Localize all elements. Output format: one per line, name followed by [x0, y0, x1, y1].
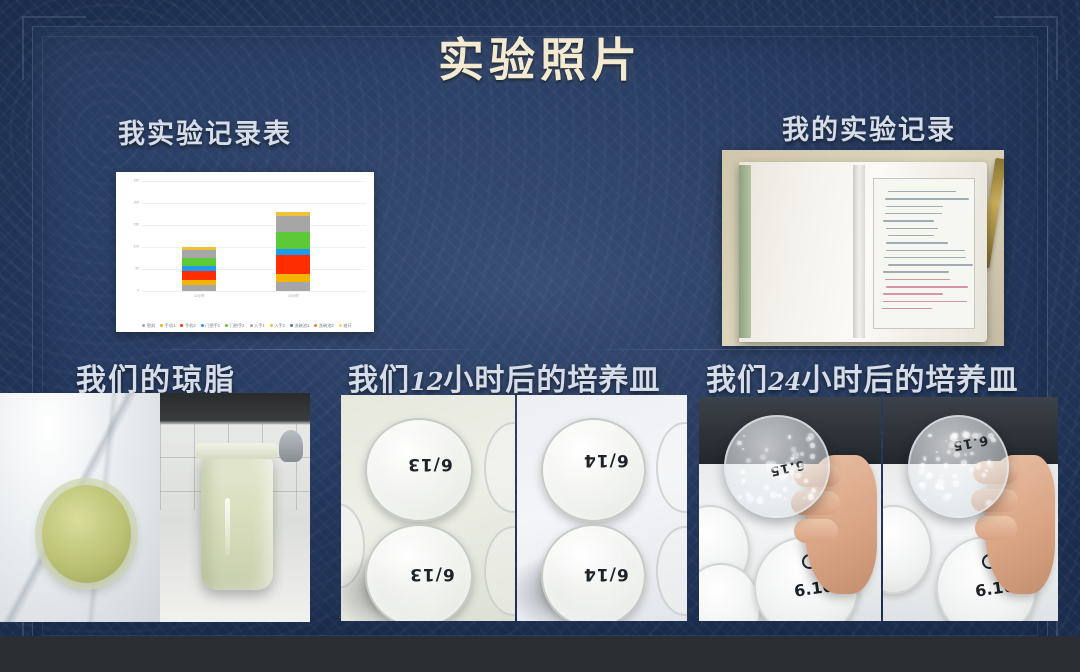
- chart-y-tick: 150: [134, 223, 139, 226]
- handwritten-line: [883, 271, 948, 272]
- bacterial-colony: [924, 469, 927, 472]
- bacterial-colony: [969, 467, 974, 472]
- chart-bar: 24小时: [276, 212, 310, 291]
- legend-swatch: [339, 324, 342, 327]
- legend-swatch: [225, 324, 228, 327]
- chart-bar-segment: [276, 232, 310, 249]
- bacterial-colony: [975, 463, 981, 469]
- legend-swatch: [290, 324, 293, 327]
- bacterial-colony: [954, 440, 959, 445]
- chart-bar-segment: [182, 285, 216, 291]
- bacterial-colony: [803, 497, 806, 500]
- legend-label: 入手2: [274, 324, 285, 328]
- chart-gridline: 200: [142, 203, 366, 204]
- legend-label: 手机1: [165, 324, 176, 328]
- bacterial-colony: [982, 473, 986, 477]
- chart-legend-item: 门把手1: [201, 324, 220, 328]
- chart-bar-segment: [182, 271, 216, 281]
- legend-swatch: [270, 324, 273, 327]
- handwritten-line: [886, 228, 938, 229]
- plate-photo-12h-right: 6/14 6/14: [517, 395, 687, 621]
- handwritten-line: [885, 198, 969, 199]
- handwritten-line: [888, 264, 973, 265]
- caption-plates-12h: 我们12小时后的培养皿: [348, 355, 660, 399]
- bacterial-colony: [926, 472, 933, 479]
- handwritten-line: [884, 257, 965, 258]
- legend-label: 门把手2: [230, 324, 245, 328]
- finger: [794, 519, 838, 543]
- finger: [975, 516, 1017, 540]
- bacterial-colony: [977, 433, 983, 439]
- bacterial-colony: [784, 497, 787, 500]
- bacterial-colony: [786, 462, 790, 466]
- agar-jar-photo: [160, 393, 310, 622]
- plate-label: 6/13: [409, 564, 455, 584]
- legend-label: 手机2: [185, 324, 196, 328]
- plate-label: 6/14: [583, 450, 629, 470]
- chart-bar-segment: [182, 250, 216, 258]
- legend-swatch: [180, 324, 183, 327]
- chart-gridline: 0: [142, 291, 366, 292]
- legend-swatch: [201, 324, 204, 327]
- agar-jar: [201, 455, 273, 590]
- handwritten-line: [883, 293, 943, 294]
- handwritten-line: [888, 191, 957, 192]
- bacterial-colony: [808, 433, 814, 439]
- bacterial-colony: [810, 454, 814, 458]
- bacterial-colony: [936, 457, 940, 461]
- bacterial-colony: [738, 495, 742, 499]
- jar-highlight: [225, 498, 230, 555]
- petri-dish: 6/13: [365, 524, 473, 621]
- bacterial-colony: [800, 452, 804, 456]
- caption-chart: 我实验记录表: [118, 112, 292, 151]
- chart-legend-item: 门把手2: [225, 324, 244, 328]
- bacterial-colony: [945, 440, 947, 442]
- chart-y-tick: 250: [134, 179, 139, 182]
- plate-photo-24h-right: 6.16 6.15: [883, 397, 1058, 621]
- bacterial-colony: [811, 488, 816, 493]
- bacterial-colony: [940, 486, 944, 490]
- chart-legend-item: 洗碗池2: [314, 324, 333, 328]
- handwritten-line: [885, 279, 950, 280]
- chart-legend-item: 密封: [142, 324, 155, 328]
- agar-bowl-photo: [0, 393, 160, 622]
- bacterial-colony: [741, 470, 745, 474]
- chart-legend-item: 手机2: [180, 324, 195, 328]
- chart-y-tick: 200: [134, 201, 139, 204]
- legend-swatch: [142, 324, 145, 327]
- legend-label: 入手1: [254, 324, 265, 328]
- chart-legend: 密封手机1手机2门把手1门把手2入手1入手2洗碗池1洗碗池2避开: [126, 324, 368, 328]
- chart-legend-item: 手机1: [160, 324, 175, 328]
- plate-label: 6/14: [583, 564, 629, 584]
- bacterial-colony: [741, 483, 743, 485]
- bacterial-colony: [953, 480, 960, 487]
- notebook-gutter: [853, 165, 865, 338]
- bacterial-colony: [928, 434, 932, 438]
- handwritten-line: [886, 286, 968, 287]
- legend-label: 密封: [147, 324, 155, 328]
- chart-legend-item: 避开: [339, 324, 352, 328]
- chart-gridline: 50: [142, 269, 366, 270]
- caption-notebook: 我的实验记录: [782, 108, 956, 147]
- chart-bar-segment: [182, 258, 216, 267]
- plate-label: 6/13: [407, 454, 453, 474]
- chart-bar-segment: [276, 255, 310, 274]
- plate-photo-24h-left: 6.16 6.15: [699, 397, 881, 621]
- bacterial-colony: [986, 500, 992, 506]
- handwritten-line: [886, 242, 948, 243]
- bacterial-colony: [779, 474, 785, 480]
- handwritten-line: [883, 220, 934, 221]
- chart-plot-area: 05010015020025012小时24小时: [142, 182, 366, 292]
- petri-dish: 6/14: [541, 524, 646, 621]
- handwritten-line: [888, 235, 935, 236]
- bacterial-colony: [788, 435, 791, 438]
- bacterial-colony: [920, 483, 923, 486]
- jar-lip: [196, 443, 277, 459]
- experiment-record-chart: 05010015020025012小时24小时 密封手机1手机2门把手1门把手2…: [116, 172, 374, 332]
- legend-label: 避开: [343, 324, 351, 328]
- chart-legend-item: 洗碗池1: [290, 324, 309, 328]
- handwritten-line: [885, 213, 942, 214]
- bacterial-colony: [964, 453, 967, 456]
- bottom-letterbox: [0, 636, 1080, 672]
- chart-y-tick: 0: [137, 289, 139, 292]
- bacterial-colony: [765, 448, 768, 451]
- bacterial-colony: [737, 441, 742, 446]
- bacterial-colony: [941, 475, 943, 477]
- bacterial-colony: [790, 470, 794, 474]
- bacterial-colony: [760, 455, 766, 461]
- bacterial-colony: [770, 492, 777, 499]
- bacterial-colony: [791, 481, 793, 483]
- handwritten-line: [886, 250, 966, 251]
- chart-bar-segment: [276, 282, 310, 291]
- legend-label: 洗碗池2: [319, 324, 334, 328]
- bacterial-colony: [947, 450, 951, 454]
- legend-swatch: [250, 324, 253, 327]
- open-notebook: [739, 162, 987, 342]
- petri-dish: 6/14: [541, 418, 646, 522]
- caption-plates-24h: 我们24小时后的培养皿: [706, 355, 1018, 399]
- petri-dish: 6/13: [365, 418, 473, 522]
- caption-plates-24h-prefix: 我们: [706, 363, 768, 398]
- bacterial-colony: [970, 452, 973, 455]
- handwritten-line: [886, 206, 943, 207]
- bacterial-colony: [987, 460, 991, 464]
- caption-plates-24h-suffix: 小时后的培养皿: [801, 363, 1018, 398]
- legend-label: 门把手1: [205, 324, 220, 328]
- chart-legend-item: 入手1: [250, 324, 265, 328]
- bacterial-colony: [746, 458, 751, 463]
- bacterial-colony: [795, 473, 801, 479]
- bacterial-colony: [936, 451, 938, 453]
- held-petri-dish: 6.15: [908, 415, 1010, 518]
- held-petri-dish: 6.15: [724, 415, 830, 518]
- chart-y-tick: 100: [134, 245, 139, 248]
- chart-gridline: 150: [142, 225, 366, 226]
- bacterial-colony: [952, 474, 956, 478]
- chart-x-tick: 12小时: [182, 293, 216, 298]
- chart-legend-item: 入手2: [270, 324, 285, 328]
- caption-plates-12h-suffix: 小时后的培养皿: [443, 363, 660, 398]
- slide-root: 实验照片 我实验记录表 我的实验记录 我们的琼脂 我们12小时后的培养皿 我们2…: [0, 0, 1080, 672]
- bacterial-colony: [804, 479, 809, 484]
- bacterial-colony: [961, 460, 967, 466]
- bacterial-colony: [743, 435, 745, 437]
- caption-plates-12h-prefix: 我们: [348, 363, 410, 398]
- bacterial-colony: [747, 495, 754, 502]
- faucet: [279, 430, 303, 462]
- bacterial-colony: [924, 458, 927, 461]
- bacterial-colony: [770, 461, 775, 466]
- bacterial-colony: [787, 473, 789, 475]
- handwritten-line: [882, 308, 932, 309]
- caption-plates-12h-number: 12: [410, 367, 443, 396]
- notebook-spine: [739, 165, 751, 338]
- bacterial-colony: [783, 487, 788, 492]
- chart-x-tick: 24小时: [276, 293, 310, 298]
- legend-swatch: [314, 324, 317, 327]
- chart-bar-segment: [276, 274, 310, 282]
- bacterial-colony: [954, 452, 959, 457]
- bacterial-colony: [924, 499, 926, 501]
- bacterial-colony: [757, 497, 764, 504]
- notebook-photo: [722, 150, 1004, 346]
- chart-gridline: 250: [142, 181, 366, 182]
- chart-gridline: 100: [142, 247, 366, 248]
- bacterial-colony: [920, 463, 926, 469]
- slide-title: 实验照片: [0, 24, 1080, 90]
- bacterial-colony: [742, 448, 744, 450]
- chart-y-tick: 50: [135, 267, 139, 270]
- caption-plates-24h-number: 24: [768, 367, 801, 396]
- legend-swatch: [160, 324, 163, 327]
- handwritten-line: [883, 301, 967, 302]
- bacterial-colony: [986, 470, 989, 473]
- legend-label: 洗碗池1: [294, 324, 309, 328]
- bacterial-colony: [962, 431, 968, 437]
- agar-bowl: [42, 485, 132, 583]
- plate-photo-12h-left: 6/13 6/13: [341, 395, 515, 621]
- chart-bar: 12小时: [182, 247, 216, 291]
- bacterial-colony: [944, 463, 948, 467]
- record-sheet: [873, 178, 975, 329]
- bacterial-colony: [764, 485, 769, 490]
- bacterial-colony: [943, 495, 949, 501]
- bacterial-colony: [808, 494, 814, 500]
- bacterial-colony: [778, 494, 781, 497]
- bacterial-colony: [810, 443, 814, 447]
- bacterial-colony: [919, 469, 924, 474]
- chart-bar-segment: [276, 216, 310, 232]
